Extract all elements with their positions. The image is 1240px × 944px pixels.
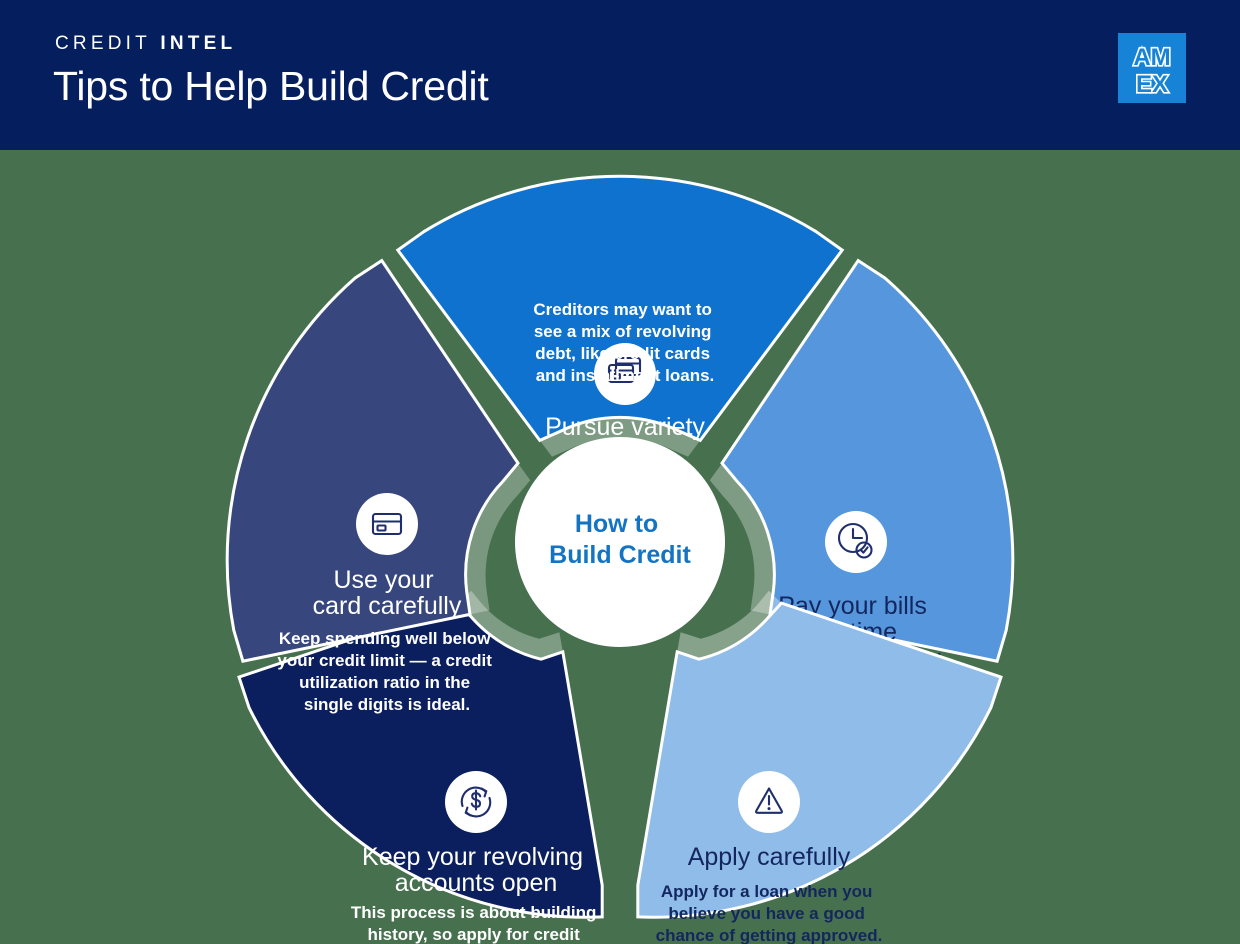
segment-use-card-icon-bg bbox=[356, 493, 418, 555]
pie-wheel-diagram: Pursue variety Creditors may want to see… bbox=[0, 150, 1240, 944]
body-line: This process is about building bbox=[351, 903, 597, 922]
amex-logo-mark: AM EX bbox=[1118, 33, 1186, 103]
body-line: debt, like credit cards bbox=[535, 344, 710, 363]
segment-apply-carefully-body: Apply for a loan when you believe you ha… bbox=[656, 882, 883, 944]
segment-pursue-variety-heading-1: Pursue variety bbox=[545, 413, 705, 441]
body-line: Creditors may want to bbox=[533, 300, 712, 319]
amex-logo-line2: EX bbox=[1136, 71, 1168, 98]
body-line: Keep spending well below bbox=[279, 629, 491, 648]
body-line: Apply for a loan when you bbox=[661, 882, 873, 901]
body-line: chance of getting approved. bbox=[656, 926, 883, 944]
body-line: single digits is ideal. bbox=[304, 695, 470, 714]
amex-logo: AM EX bbox=[1118, 33, 1186, 103]
heading-line: Keep your revolving bbox=[362, 843, 583, 871]
header-bar: CREDIT INTEL Tips to Help Build Credit A… bbox=[0, 0, 1240, 150]
body-line: see a mix of revolving bbox=[534, 322, 712, 341]
body-line: and installment loans. bbox=[536, 366, 715, 385]
wheel-svg: Pursue variety Creditors may want to see… bbox=[0, 150, 1240, 944]
infographic-page: CREDIT INTEL Tips to Help Build Credit A… bbox=[0, 0, 1240, 944]
eyebrow-bold-text: INTEL bbox=[160, 33, 236, 54]
center-line-1: How to bbox=[575, 510, 658, 538]
body-line: history, so apply for credit bbox=[368, 925, 581, 944]
body-line: believe you have a good bbox=[668, 904, 865, 923]
segment-apply-carefully-heading-1: Apply carefully bbox=[688, 843, 851, 871]
segment-use-card-heading: Use your card carefully bbox=[313, 566, 462, 620]
eyebrow-credit-intel: CREDIT INTEL bbox=[55, 33, 236, 55]
segment-keep-accounts-body: This process is about building history, … bbox=[351, 903, 601, 944]
heading-line: accounts open bbox=[395, 869, 558, 897]
center-line-2: Build Credit bbox=[549, 541, 691, 569]
page-title: Tips to Help Build Credit bbox=[53, 63, 489, 110]
body-line: utilization ratio in the bbox=[299, 673, 470, 692]
segment-keep-accounts-heading: Keep your revolving accounts open bbox=[362, 843, 590, 897]
segment-pay-bills-icon-bg bbox=[825, 511, 887, 573]
amex-logo-line1: AM bbox=[1133, 44, 1170, 71]
eyebrow-light-text: CREDIT bbox=[55, 33, 151, 54]
heading-line: Use your bbox=[334, 566, 434, 594]
heading-line: card carefully bbox=[313, 592, 462, 620]
body-line: your credit limit — a credit bbox=[277, 651, 492, 670]
